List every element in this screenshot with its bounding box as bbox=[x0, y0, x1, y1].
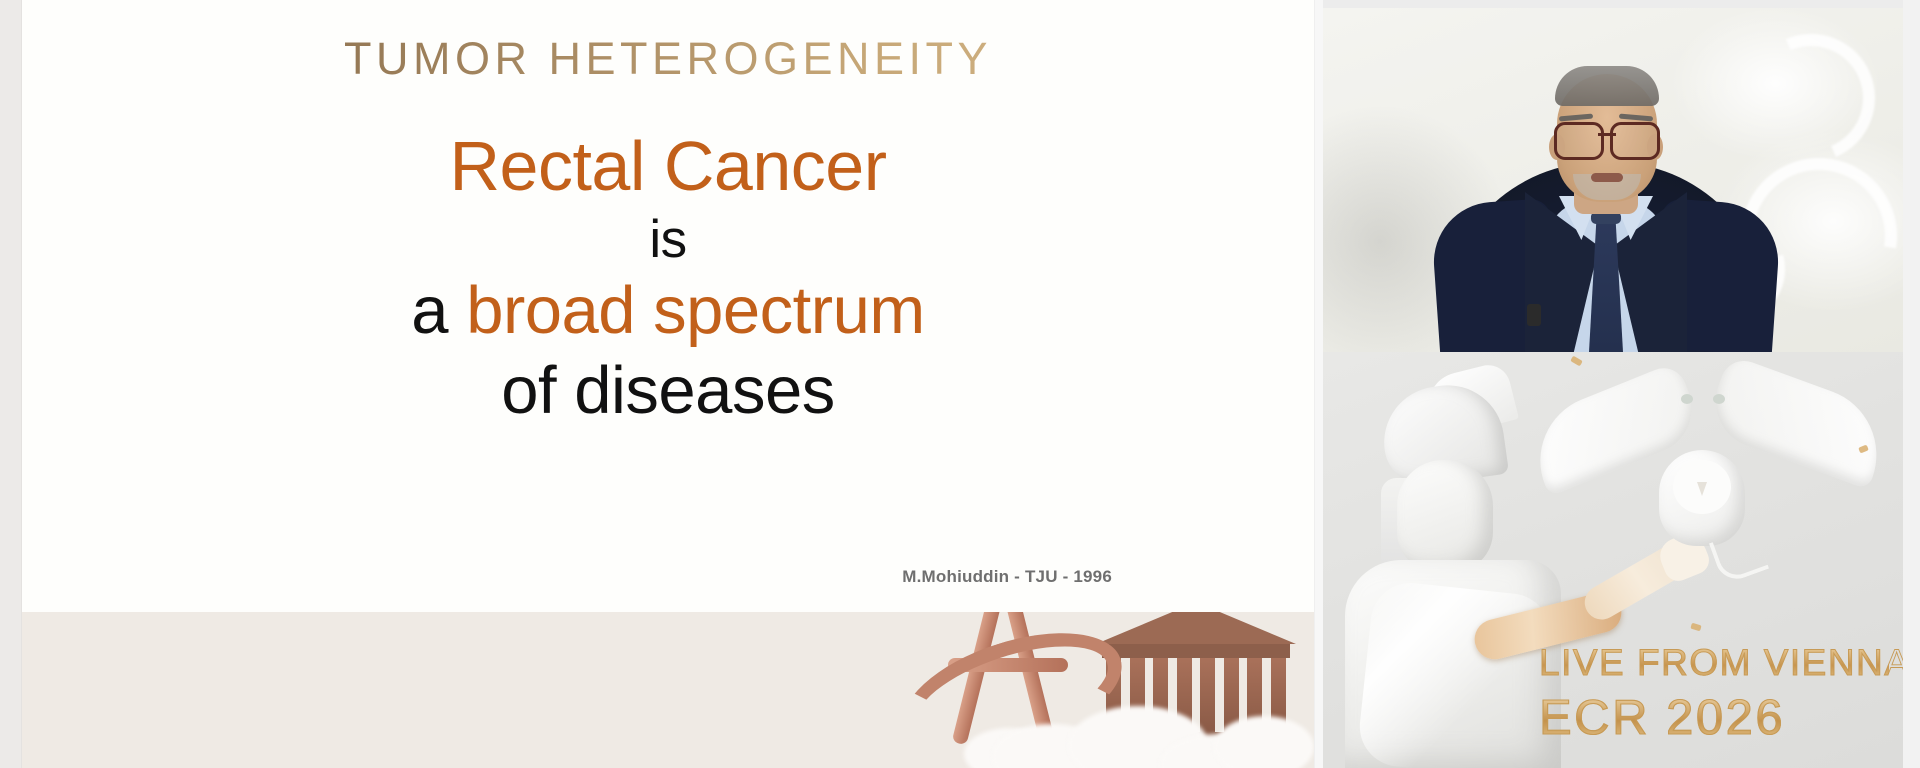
slide-line-1: Rectal Cancer bbox=[22, 125, 1314, 208]
speaker-mouth bbox=[1591, 173, 1623, 182]
slide-line-3-prefix: a bbox=[411, 273, 466, 348]
lapel-microphone-icon bbox=[1527, 304, 1541, 326]
slide-line-3: a broad spectrum bbox=[22, 271, 1314, 351]
panel-gap bbox=[1314, 0, 1323, 768]
speaker-hair bbox=[1555, 66, 1659, 106]
branding-line-ecr-2026: ECR 2026 bbox=[1539, 690, 1889, 746]
left-margin-strip bbox=[0, 0, 22, 768]
event-branding-panel[interactable]: LIVE FROM VIENNA ECR 2026 bbox=[1323, 352, 1903, 768]
gold-sparkle-icon bbox=[1690, 623, 1701, 632]
presentation-slide[interactable]: TUMOR HETEROGENEITY Rectal Cancer is a b… bbox=[22, 0, 1314, 768]
screen: TUMOR HETEROGENEITY Rectal Cancer is a b… bbox=[0, 0, 1920, 768]
gold-sparkle-icon bbox=[1570, 356, 1583, 367]
slide-body: TUMOR HETEROGENEITY Rectal Cancer is a b… bbox=[22, 0, 1314, 612]
footer-artwork bbox=[894, 612, 1314, 768]
eyeglasses-icon bbox=[1553, 122, 1661, 156]
speaker-video-panel[interactable] bbox=[1323, 8, 1903, 352]
branding-text-block: LIVE FROM VIENNA ECR 2026 bbox=[1539, 642, 1889, 746]
speaker-figure bbox=[1441, 82, 1771, 352]
right-margin-strip bbox=[1903, 0, 1920, 768]
slide-footer-bar: ESR connAction @ ECR 2026 bbox=[22, 612, 1314, 768]
owl-icon bbox=[1539, 376, 1869, 586]
slide-text-block: Rectal Cancer is a broad spectrum of dis… bbox=[22, 125, 1314, 431]
slide-line-3-highlight: broad spectrum bbox=[466, 273, 925, 348]
slide-title: TUMOR HETEROGENEITY bbox=[22, 33, 1314, 85]
slide-line-2: is bbox=[22, 208, 1314, 271]
clouds-icon bbox=[984, 698, 1314, 768]
slide-credit: M.Mohiuddin - TJU - 1996 bbox=[902, 567, 1112, 587]
branding-line-live-from-vienna: LIVE FROM VIENNA bbox=[1539, 642, 1889, 684]
right-column: LIVE FROM VIENNA ECR 2026 bbox=[1323, 0, 1903, 768]
slide-line-4: of diseases bbox=[22, 351, 1314, 431]
